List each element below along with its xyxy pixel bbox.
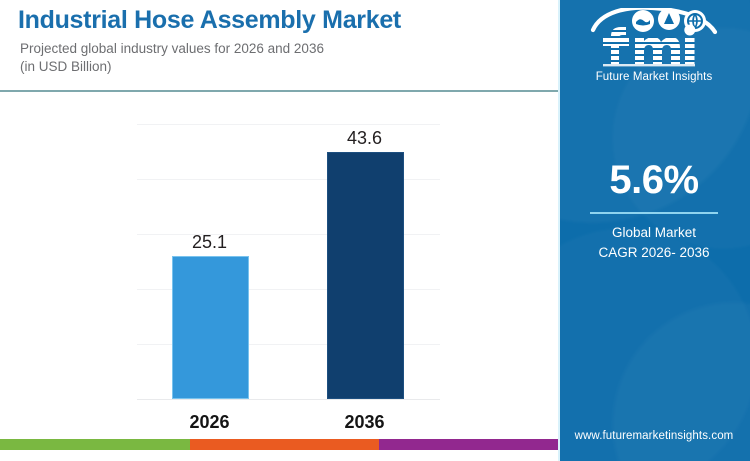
bar-value-label: 43.6: [347, 128, 382, 149]
strip-segment-green: [0, 439, 190, 450]
website-url[interactable]: www.futuremarketinsights.com: [558, 430, 750, 442]
bar-rect: [172, 256, 249, 399]
bar-2036[interactable]: 43.6: [327, 154, 402, 399]
cagr-caption-line-1: Global Market: [558, 223, 750, 243]
page-title: Industrial Hose Assembly Market: [18, 6, 546, 35]
strip-segment-purple: [379, 439, 558, 450]
strip-segment-orange: [190, 439, 379, 450]
brand-side-panel: Future Market Insights 5.6% Global Marke…: [558, 0, 750, 461]
x-axis-labels: 2026 2036: [137, 412, 440, 438]
page-subtitle: Projected global industry values for 202…: [20, 40, 546, 76]
cagr-value: 5.6%: [558, 160, 750, 200]
fmi-logo-block[interactable]: Future Market Insights: [558, 8, 750, 83]
bar-rect: [327, 152, 404, 399]
infographic-root: Industrial Hose Assembly Market Projecte…: [0, 0, 750, 461]
bottom-color-strip: [0, 439, 558, 450]
cagr-divider: [590, 212, 718, 214]
cagr-block: 5.6% Global Market CAGR 2026- 2036: [558, 160, 750, 263]
x-axis-label-2026: 2026: [172, 412, 247, 433]
bar-chart: 25.1 43.6: [137, 118, 440, 408]
cagr-caption-line-2: CAGR 2026- 2036: [558, 243, 750, 263]
header: Industrial Hose Assembly Market Projecte…: [18, 6, 546, 76]
x-axis-label-2036: 2036: [327, 412, 402, 433]
cagr-caption: Global Market CAGR 2026- 2036: [558, 223, 750, 264]
chart-plot-area: 25.1 43.6: [137, 118, 440, 399]
main-content-area: Industrial Hose Assembly Market Projecte…: [0, 0, 558, 450]
subtitle-line-1: Projected global industry values for 202…: [20, 40, 546, 58]
logo-wordmark: Future Market Insights: [558, 71, 750, 83]
fmi-logo-icon: [579, 8, 729, 70]
subtitle-line-2: (in USD Billion): [20, 58, 546, 76]
bar-value-label: 25.1: [192, 232, 227, 253]
bar-2026[interactable]: 25.1: [172, 258, 247, 399]
header-divider: [0, 90, 558, 92]
gridline-baseline: [137, 399, 440, 400]
